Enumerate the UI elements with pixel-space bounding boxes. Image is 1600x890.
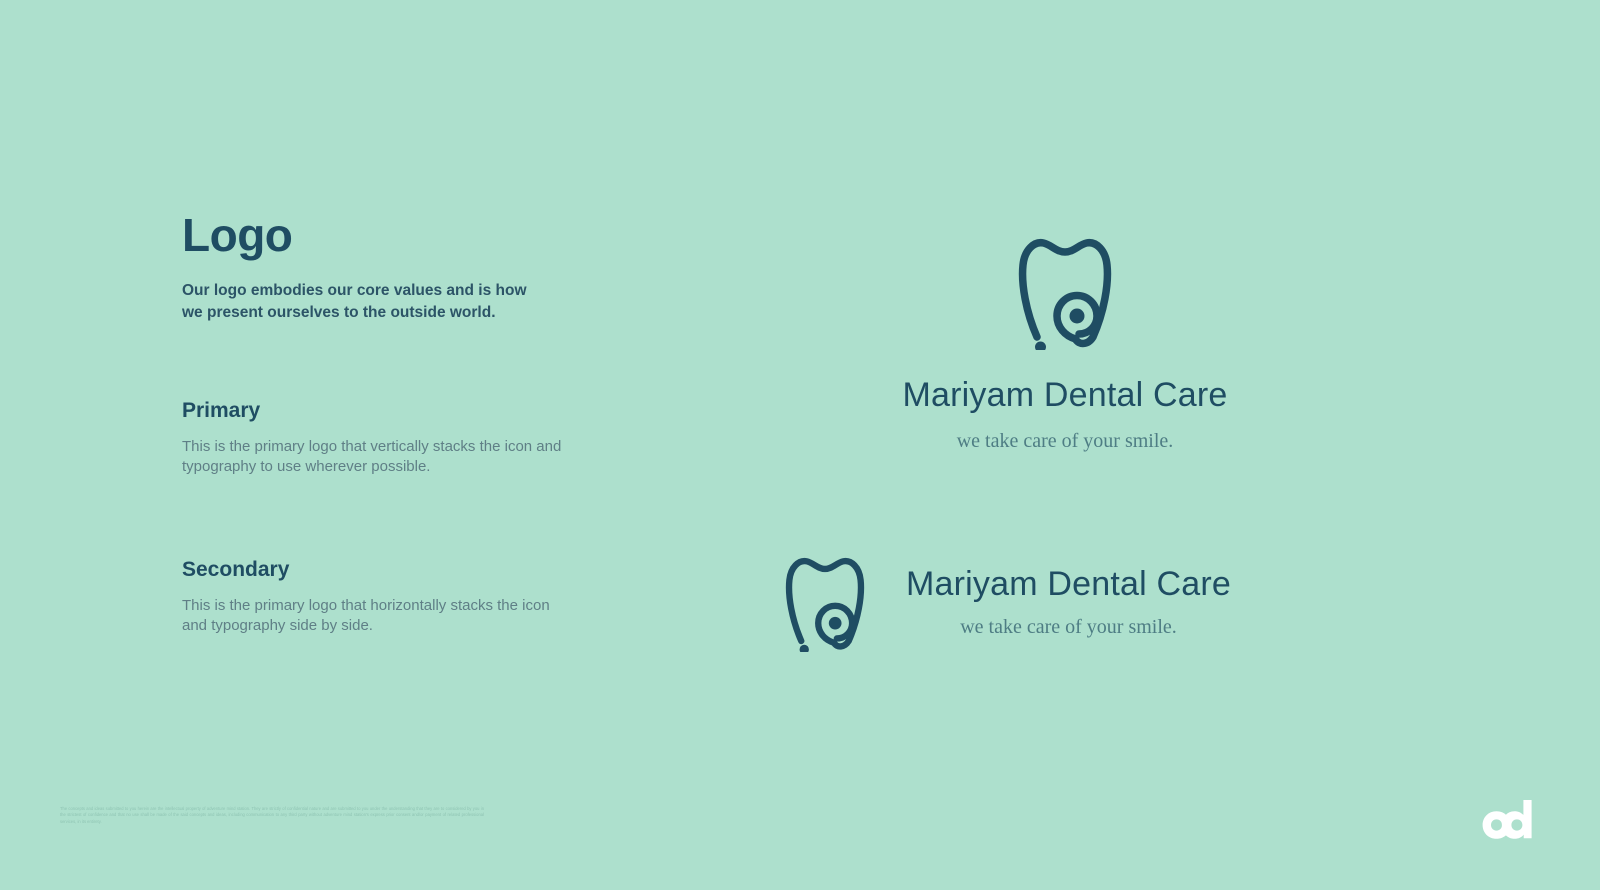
intro-block: Logo Our logo embodies our core values a… xyxy=(182,212,602,325)
secondary-text-block: Mariyam Dental Care we take care of your… xyxy=(906,567,1231,637)
agency-watermark-logo xyxy=(1476,798,1538,842)
brand-wordmark: Mariyam Dental Care xyxy=(902,378,1227,412)
brand-tagline: we take care of your smile. xyxy=(960,617,1177,637)
page-intro-text: Our logo embodies our core values and is… xyxy=(182,280,527,325)
primary-logo-lockup: Mariyam Dental Care we take care of your… xyxy=(860,232,1270,451)
stethoscope-center-dot xyxy=(1070,309,1085,324)
section-primary: Primary This is the primary logo that ve… xyxy=(182,400,582,478)
section-primary-body: This is the primary logo that vertically… xyxy=(182,437,564,478)
brand-wordmark: Mariyam Dental Care xyxy=(906,567,1231,601)
stethoscope-tip-dot xyxy=(1035,342,1046,351)
section-secondary-title: Secondary xyxy=(182,559,582,580)
brand-guideline-page: Logo Our logo embodies our core values a… xyxy=(0,0,1600,890)
tooth-stethoscope-icon xyxy=(1015,232,1115,350)
secondary-logo-lockup: Mariyam Dental Care we take care of your… xyxy=(782,552,1231,652)
section-primary-title: Primary xyxy=(182,400,582,421)
stethoscope-tip-dot xyxy=(800,645,809,652)
brand-tagline: we take care of your smile. xyxy=(957,431,1174,451)
section-secondary-body: This is the primary logo that horizontal… xyxy=(182,596,564,637)
legal-disclaimer: The concepts and ideas submitted to you … xyxy=(60,806,484,825)
tooth-stethoscope-icon xyxy=(782,552,868,652)
section-secondary: Secondary This is the primary logo that … xyxy=(182,559,582,637)
page-title: Logo xyxy=(182,212,602,258)
stethoscope-center-dot xyxy=(829,617,842,630)
